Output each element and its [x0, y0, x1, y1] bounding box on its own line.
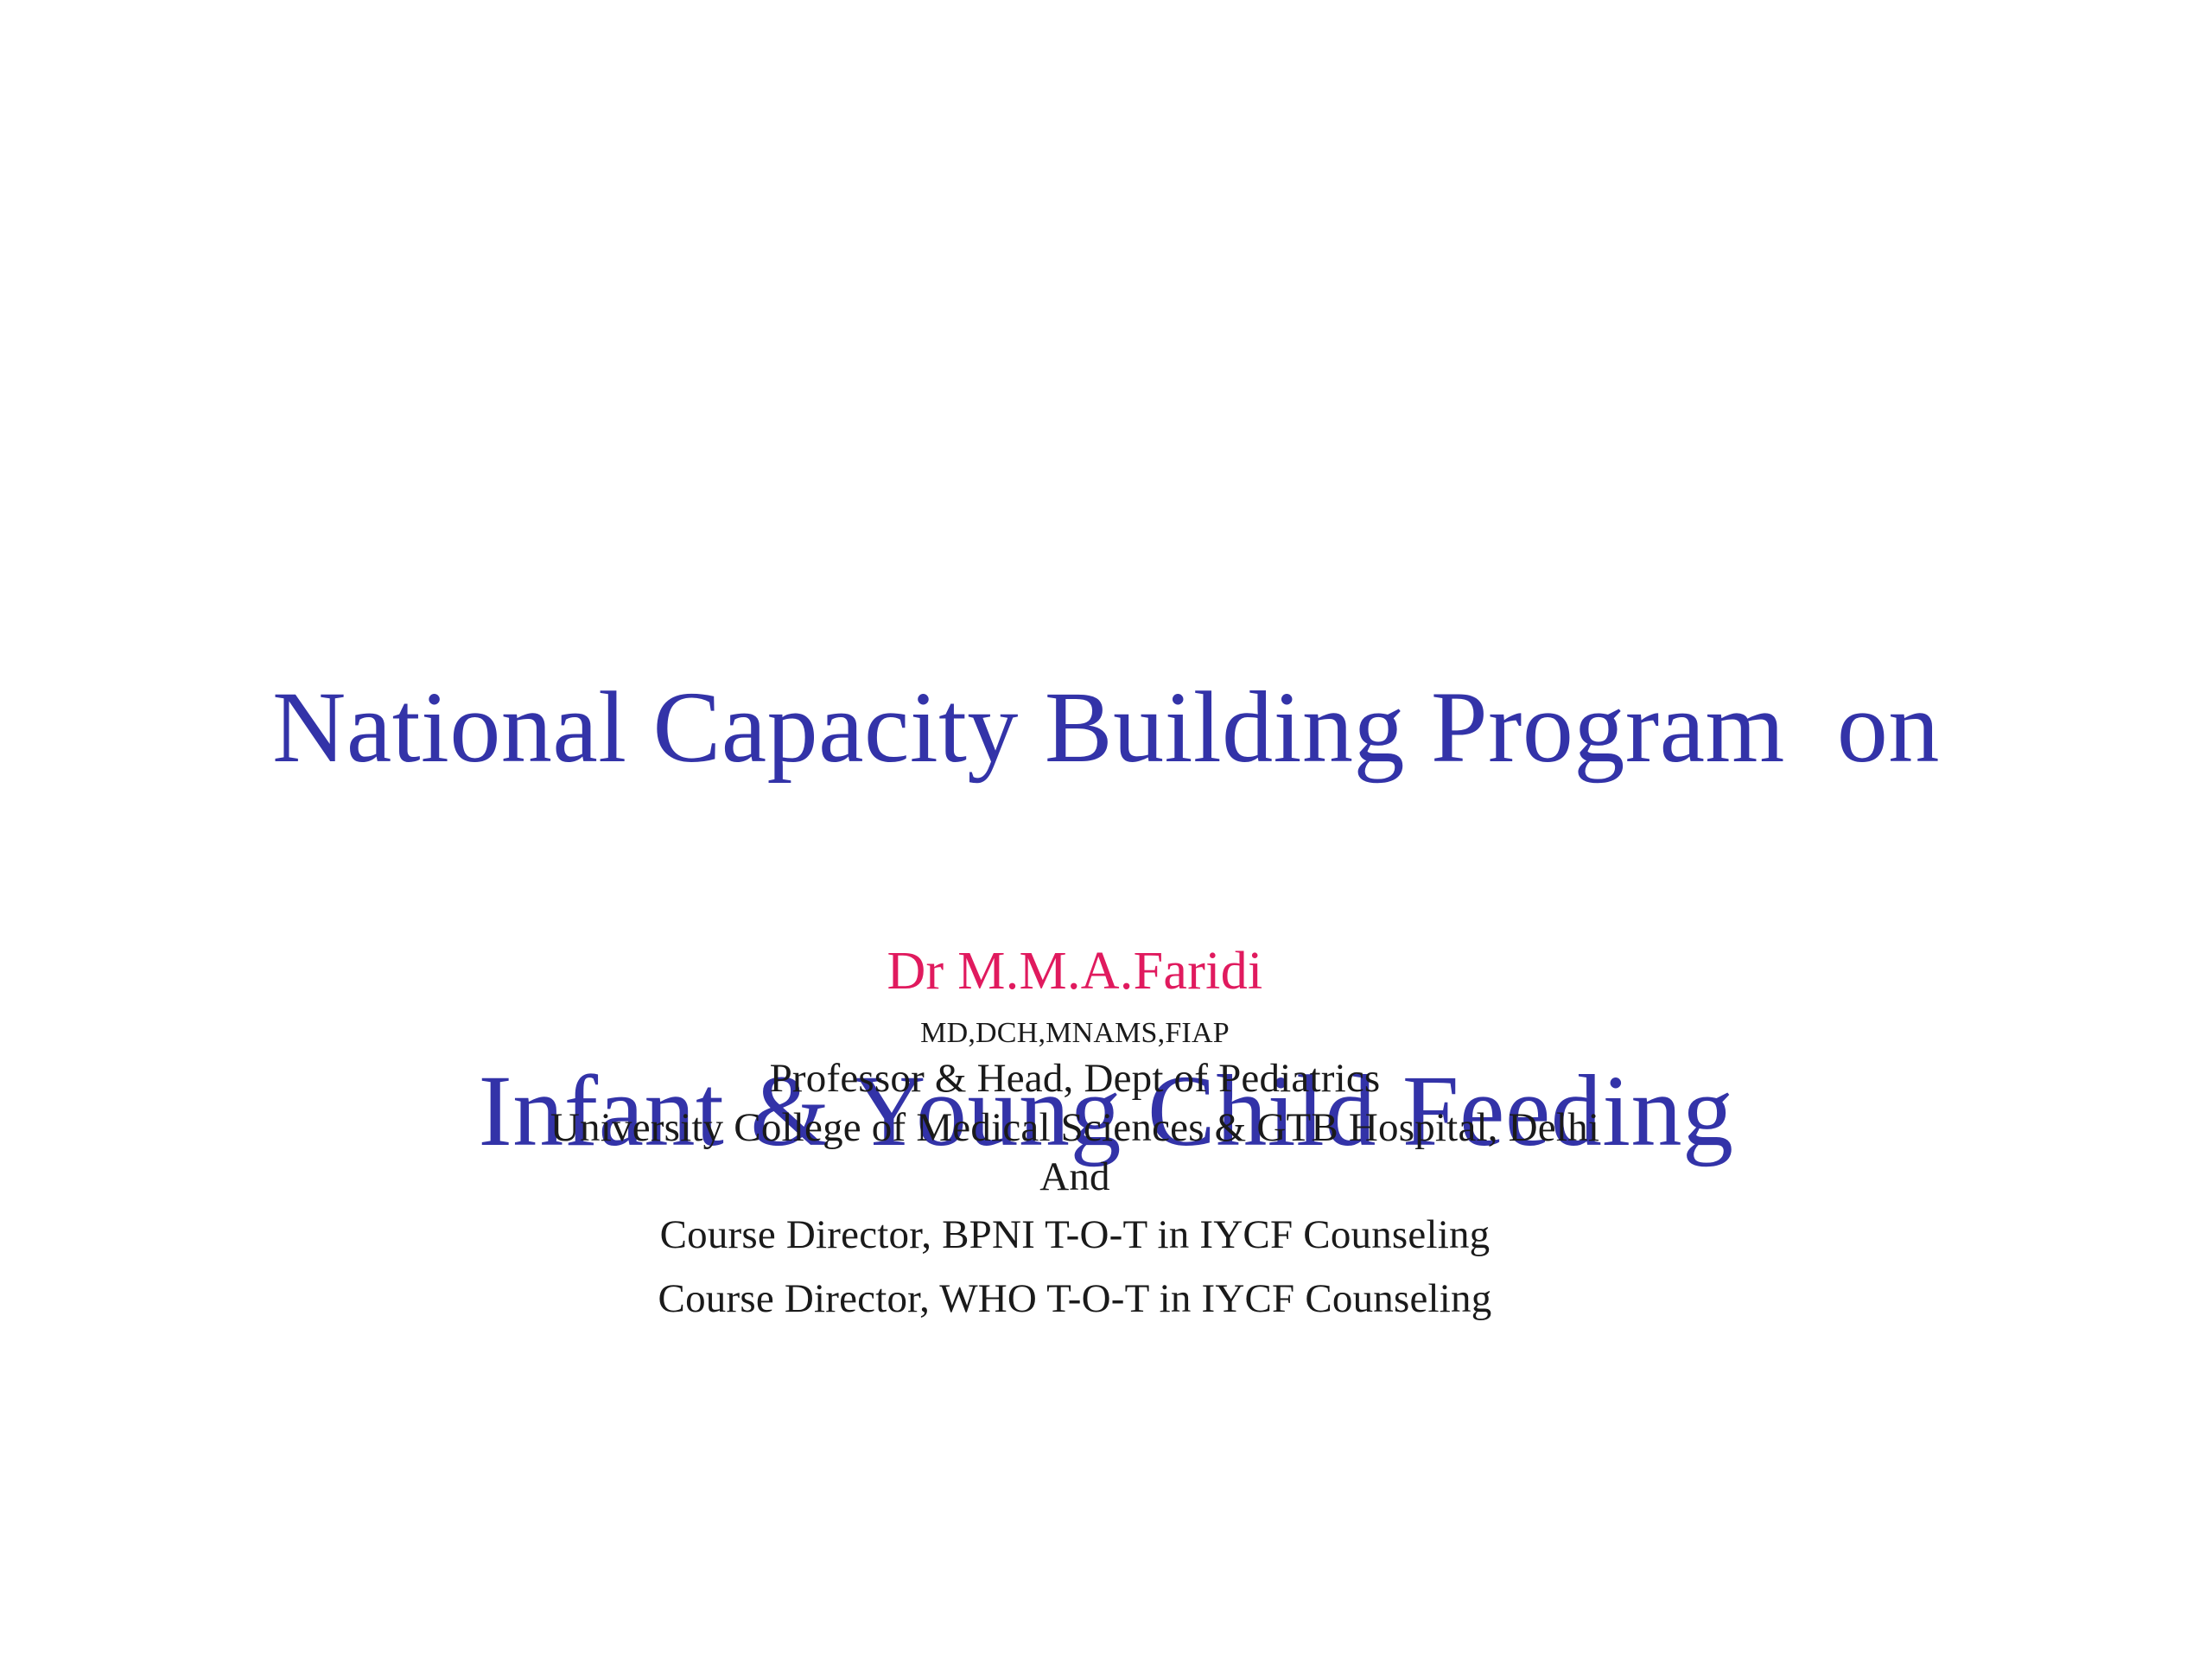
slide-title-line-1: National Capacity Building Program on [0, 664, 2212, 791]
presenter-byline: Dr M.M.A.Faridi MD,DCH,MNAMS,FIAP Profes… [0, 940, 2212, 1324]
presentation-title-slide: National Capacity Building Program on In… [0, 0, 2212, 1659]
presenter-role-who: Course Director, WHO T-O-T in IYCF Couns… [0, 1274, 2212, 1324]
presenter-affiliation-conjunction: And [0, 1153, 2212, 1202]
presenter-affiliation-institution: University College of Medical Sciences &… [0, 1103, 2212, 1153]
presenter-name: Dr M.M.A.Faridi [0, 940, 2212, 1002]
presenter-affiliation-position: Professor & Head, Dept of Pediatrics [0, 1054, 2212, 1103]
presenter-role-bpni: Course Director, BPNI T-O-T in IYCF Coun… [0, 1211, 2212, 1260]
presenter-credentials: MD,DCH,MNAMS,FIAP [0, 1013, 2212, 1054]
